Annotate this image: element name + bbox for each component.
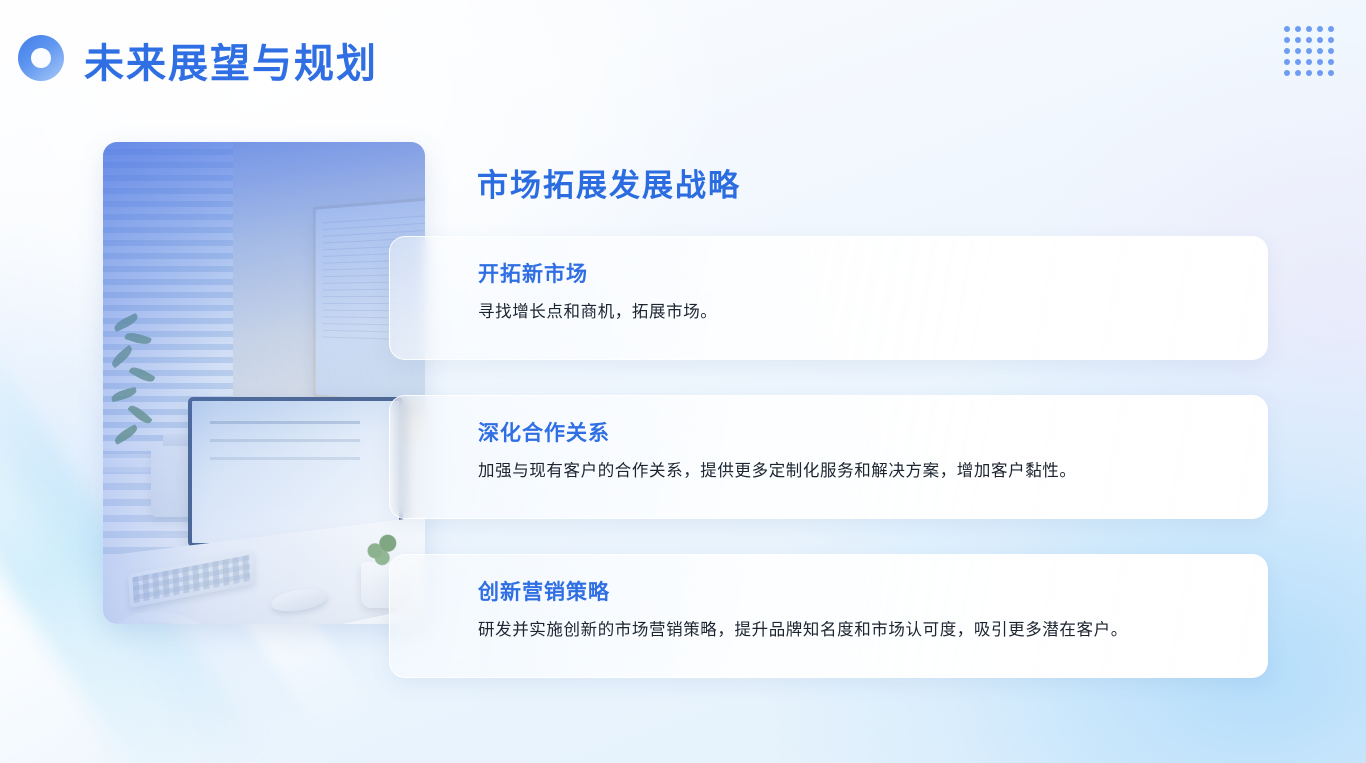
strategy-card[interactable]: 开拓新市场 寻找增长点和商机，拓展市场。: [389, 236, 1268, 360]
slide-root: 未来展望与规划: [0, 0, 1366, 763]
card-title: 创新营销策略: [478, 581, 1237, 604]
card-title: 开拓新市场: [478, 263, 1237, 286]
dot-grid-icon: [1284, 26, 1339, 81]
workspace-photo: [103, 142, 425, 624]
card-description: 加强与现有客户的合作关系，提供更多定制化服务和解决方案，增加客户黏性。: [478, 460, 1237, 482]
slide-header: 未来展望与规划: [0, 0, 1366, 118]
strategy-card[interactable]: 创新营销策略 研发并实施创新的市场营销策略，提升品牌知名度和市场认可度，吸引更多…: [389, 554, 1268, 678]
strategy-card-list: 开拓新市场 寻找增长点和商机，拓展市场。 深化合作关系 加强与现有客户的合作关系…: [389, 236, 1268, 678]
card-description: 研发并实施创新的市场营销策略，提升品牌知名度和市场认可度，吸引更多潜在客户。: [478, 619, 1237, 641]
strategy-card[interactable]: 深化合作关系 加强与现有客户的合作关系，提供更多定制化服务和解决方案，增加客户黏…: [389, 395, 1268, 519]
section-heading: 市场拓展发展战略: [477, 160, 741, 205]
photo-blue-tint-secondary: [103, 142, 425, 624]
page-title: 未来展望与规划: [84, 31, 378, 89]
card-title: 深化合作关系: [478, 422, 1237, 445]
ring-icon: [18, 35, 64, 81]
card-description: 寻找增长点和商机，拓展市场。: [478, 301, 1237, 323]
